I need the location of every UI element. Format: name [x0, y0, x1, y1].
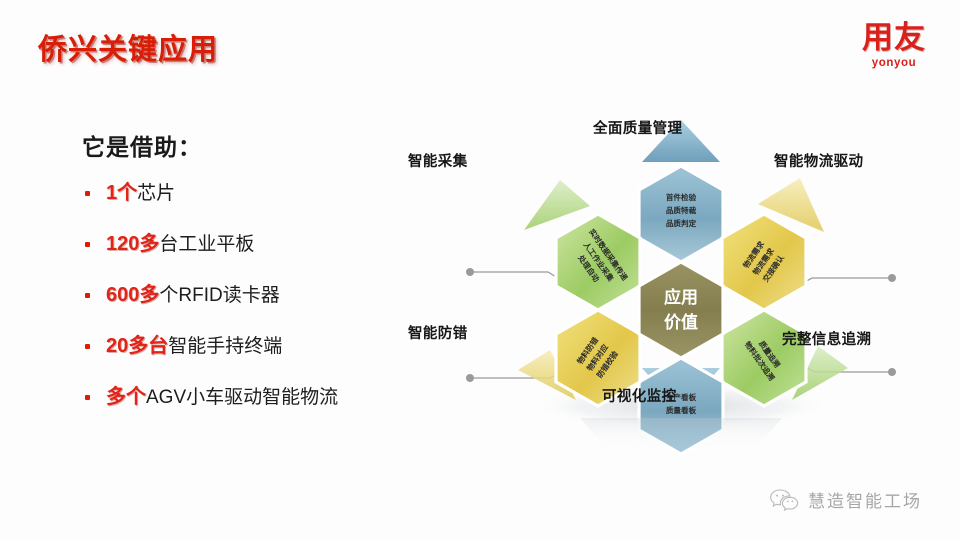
bullet-rest: 智能手持终端 — [168, 336, 282, 357]
wechat-icon — [769, 488, 799, 512]
bullet-highlight: 20多台 — [106, 335, 168, 357]
brand-logo-en: yonyou — [862, 58, 926, 70]
list-item: 120多台工业平板 — [82, 233, 412, 256]
list-item: 20多台智能手持终端 — [82, 335, 412, 358]
callout-label-bottom: 可视化监控 — [602, 385, 677, 406]
bullet-highlight: 120多 — [106, 233, 159, 255]
bullet-rest: 台工业平板 — [159, 234, 254, 255]
center-label-line1: 应用 — [664, 287, 698, 307]
lead-text: 它是借助： — [82, 128, 202, 162]
callout-label-upper-left: 智能采集 — [408, 150, 468, 171]
brand-logo-cn: 用友 — [862, 22, 926, 53]
hex-segment-center — [639, 262, 723, 358]
hexagon-diagram: 首件检验 品质特裁 品质判定 物流需求 物流需求 交接确认 质量追溯 物料批次追… — [400, 100, 960, 470]
bullet-rest: AGV小车驱动智能物流 — [146, 387, 338, 408]
bullet-highlight: 1个 — [106, 182, 137, 204]
callout-label-lower-right: 完整信息追溯 — [782, 328, 871, 349]
hex-label-top-line2: 品质特裁 — [666, 205, 697, 215]
list-item: 600多个RFID读卡器 — [82, 284, 412, 307]
callout-label-top: 全面质量管理 — [593, 117, 682, 138]
footer-text: 慧造智能工场 — [808, 487, 922, 512]
hexagon-diagram-svg: 首件检验 品质特裁 品质判定 物流需求 物流需求 交接确认 质量追溯 物料批次追… — [400, 100, 960, 470]
hex-label-bottom-line2: 质量看板 — [666, 405, 697, 415]
bullet-rest: 个RFID读卡器 — [159, 285, 279, 306]
callout-label-upper-right: 智能物流驱动 — [774, 150, 863, 171]
hex-label-top-line3: 品质判定 — [666, 218, 697, 228]
list-item: 1个芯片 — [82, 182, 412, 205]
hex-label-top-line1: 首件检验 — [666, 192, 697, 202]
bullet-rest: 芯片 — [137, 183, 175, 204]
slide-canvas: 侨兴关键应用 用友 yonyou 它是借助： 1个芯片 120多台工业平板 60… — [0, 0, 960, 540]
bullet-highlight: 600多 — [106, 284, 159, 306]
footer-watermark: 慧造智能工场 — [769, 487, 922, 512]
list-item: 多个AGV小车驱动智能物流 — [82, 386, 412, 409]
diagram-reflection — [580, 418, 782, 452]
bullet-list: 1个芯片 120多台工业平板 600多个RFID读卡器 20多台智能手持终端 多… — [82, 182, 412, 437]
center-label-line2: 价值 — [664, 312, 698, 332]
page-title: 侨兴关键应用 — [38, 26, 218, 68]
brand-logo: 用友 yonyou — [862, 22, 926, 70]
callout-label-lower-left: 智能防错 — [408, 322, 468, 343]
bullet-highlight: 多个 — [106, 386, 146, 408]
